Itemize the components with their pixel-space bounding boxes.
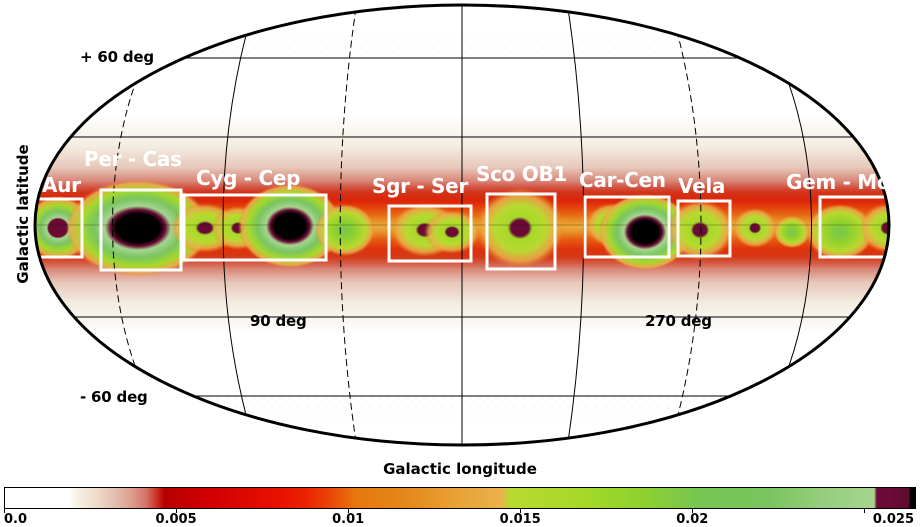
sky-data-layer — [0, 0, 920, 452]
map-panel: + 60 deg - 60 deg 90 deg 270 deg Aur Per… — [0, 0, 920, 452]
lat-tick-minus60: - 60 deg — [80, 388, 148, 406]
y-axis-label: Galactic latitude — [14, 139, 32, 289]
region-label-per-cas: Per - Cas — [84, 149, 182, 169]
colorbar-tick-label: 0.025 — [873, 512, 914, 527]
region-label-car-cen: Car-Cen — [579, 170, 666, 190]
region-label-sgr-ser: Sgr - Ser — [372, 176, 468, 196]
x-axis-label: Galactic longitude — [0, 460, 920, 478]
region-label-aur: Aur — [42, 175, 81, 195]
all-sky-heatmap — [0, 0, 920, 452]
sky-map-figure: + 60 deg - 60 deg 90 deg 270 deg Aur Per… — [0, 0, 920, 524]
colorbar-tick-label: 0.0 — [4, 512, 27, 527]
region-label-cyg-cep: Cyg - Cep — [196, 168, 300, 188]
lon-tick-90: 90 deg — [250, 312, 307, 330]
colorbar-tick-label: 0.005 — [156, 512, 197, 527]
colorbar-tick-label: 0.01 — [332, 512, 364, 527]
colorbar-tick-labels: 0.00.0050.010.0150.020.025 — [4, 509, 916, 524]
colorbar-tick-mark — [864, 509, 865, 513]
colorbar-gradient — [4, 487, 916, 509]
colorbar-tick-label: 0.015 — [500, 512, 541, 527]
region-label-gem-mon: Gem - Mon — [786, 172, 904, 192]
colorbar — [4, 487, 916, 509]
lon-tick-270: 270 deg — [645, 312, 712, 330]
region-label-vela: Vela — [678, 176, 725, 196]
region-label-sco-ob1: Sco OB1 — [476, 164, 567, 184]
colorbar-tick-label: 0.02 — [676, 512, 708, 527]
lat-tick-plus60: + 60 deg — [80, 48, 154, 66]
